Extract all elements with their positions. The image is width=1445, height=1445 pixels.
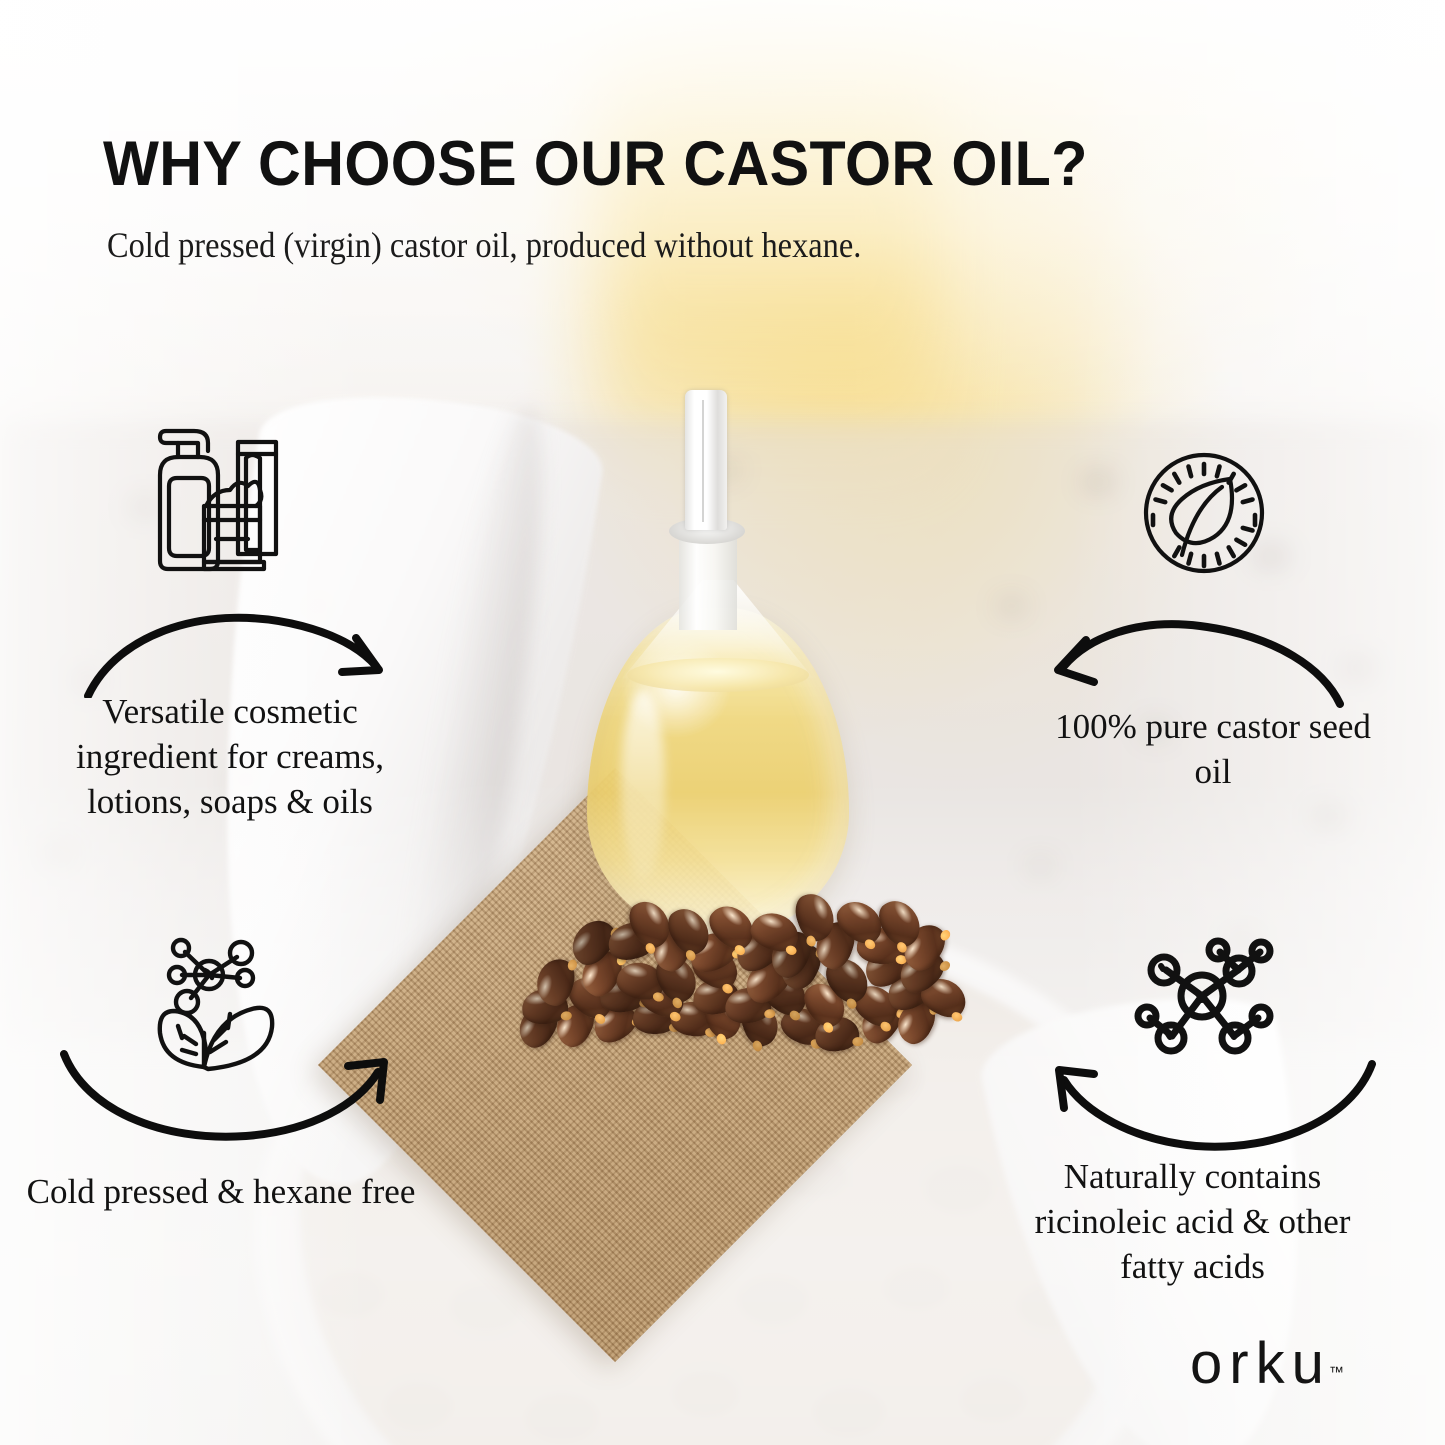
feature-label-ricinoleic-acid: Naturally contains ricinoleic acid & oth… <box>1000 1155 1385 1289</box>
page-subtitle: Cold pressed (virgin) castor oil, produc… <box>107 224 861 266</box>
feature-label-versatile-cosmetic: Versatile cosmetic ingredient for creams… <box>35 690 425 824</box>
arrow-top-left <box>70 588 400 698</box>
bottle-stopper <box>685 390 727 530</box>
brand-logo: orku™ <box>1190 1335 1346 1393</box>
brand-logo-name: orku <box>1190 1331 1331 1396</box>
bottle-highlight <box>621 690 665 880</box>
page-title: WHY CHOOSE OUR CASTOR OIL? <box>103 128 1088 200</box>
infographic-poster: WHY CHOOSE OUR CASTOR OIL? Cold pressed … <box>0 0 1445 1445</box>
feature-label-pure-castor-seed-oil: 100% pure castor seed oil <box>1048 705 1378 795</box>
oil-surface <box>627 658 809 692</box>
cosmetics-bottle-jar-tube-icon <box>134 408 334 573</box>
trademark-symbol: ™ <box>1329 1364 1344 1381</box>
castor-seed-pile <box>520 890 970 1070</box>
leaf-seal-badge-icon <box>1134 443 1274 583</box>
oil-bottle-photo <box>575 390 865 950</box>
arrow-top-right <box>1040 612 1360 712</box>
bottle-neck <box>679 530 737 630</box>
molecule-leaf-plant-icon <box>152 932 300 1072</box>
feature-label-cold-pressed-hexane-free: Cold pressed & hexane free <box>16 1170 426 1215</box>
molecule-network-icon <box>1128 924 1280 1069</box>
